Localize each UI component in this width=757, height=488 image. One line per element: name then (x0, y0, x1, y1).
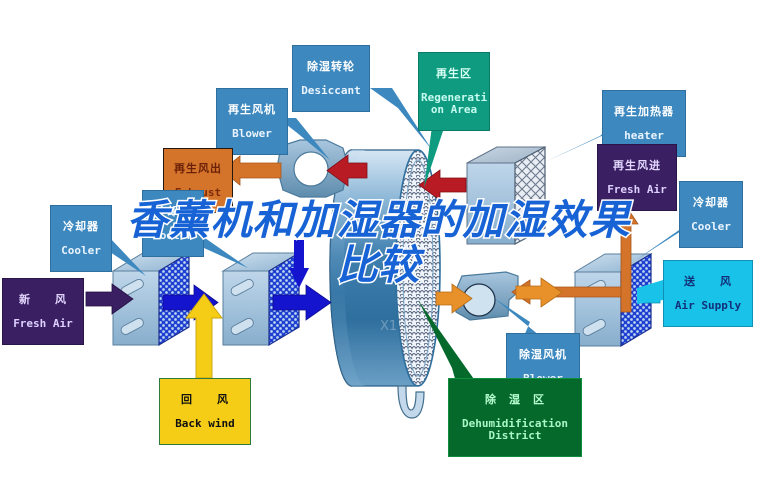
label-back-wind: 回 风 Back wind (159, 378, 251, 445)
wheel-watermark: X1 (380, 319, 397, 334)
rotor-drive-belt (398, 386, 424, 418)
overlay-title-line1: 香薰机和加湿器的加湿效果 (0, 198, 757, 243)
overlay-title: 香薰机和加湿器的加湿效果 比较 (0, 198, 757, 288)
label-dehumidification-area: 除 湿 区 Dehumidification District (448, 378, 582, 457)
label-regeneration-blower: 再生风机 Blower (216, 88, 288, 155)
diagram-canvas: X1 (0, 0, 757, 488)
label-process-fresh-air: 新 风 Fresh Air (2, 278, 84, 345)
label-desiccant-wheel: 除湿转轮 Desiccant (292, 45, 370, 112)
overlay-title-line2: 比较 (0, 243, 757, 288)
label-regeneration-area: 再生区 Regenerati on Area (418, 52, 490, 131)
